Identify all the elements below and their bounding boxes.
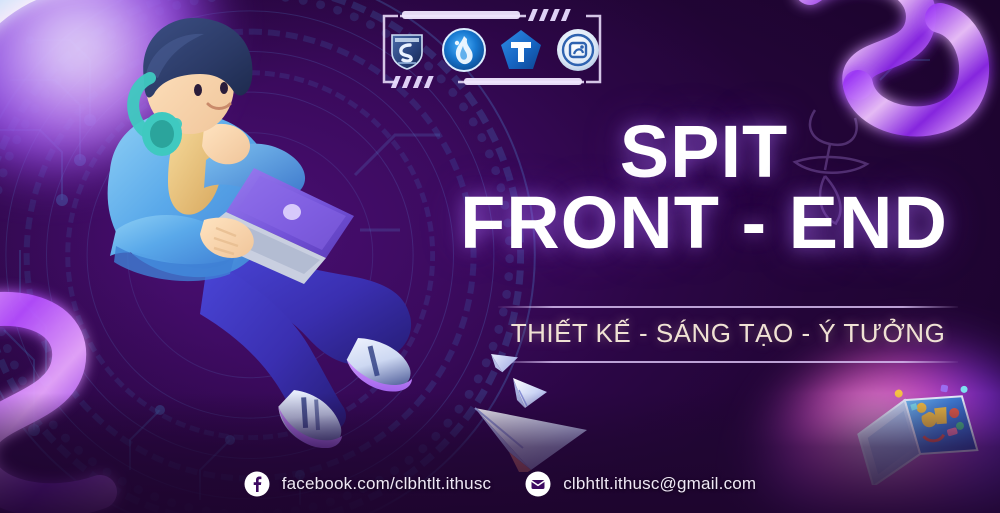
ring-badge-logo[interactable] <box>555 27 601 73</box>
headline-block: SPIT FRONT - END <box>424 118 984 260</box>
contact-email[interactable]: clbhtlt.ithusc@gmail.com <box>525 471 756 497</box>
logo-row <box>376 6 608 92</box>
pentagon-t-logo[interactable] <box>498 27 544 73</box>
headline-line-1: SPIT <box>424 118 984 186</box>
footer-contacts: facebook.com/clbhtlt.ithusc clbhtlt.ithu… <box>0 471 1000 497</box>
email-text: clbhtlt.ithusc@gmail.com <box>563 474 756 494</box>
flame-circle-logo[interactable] <box>441 27 487 73</box>
headline-line-2: FRONT - END <box>424 186 984 260</box>
paper-plane-small <box>491 352 520 374</box>
email-icon <box>525 471 551 497</box>
contact-facebook[interactable]: facebook.com/clbhtlt.ithusc <box>244 471 492 497</box>
facebook-icon <box>244 471 270 497</box>
promo-banner: SPIT FRONT - END THIẾT KẾ - SÁNG TẠO - Ý… <box>0 0 1000 513</box>
facebook-url-text: facebook.com/clbhtlt.ithusc <box>282 474 492 494</box>
shield-crest-logo[interactable] <box>384 27 430 73</box>
logo-frame <box>376 6 608 92</box>
subtitle-rule-top <box>498 306 958 308</box>
subtitle-text: THIẾT KẾ - SÁNG TẠO - Ý TƯỞNG <box>498 318 958 349</box>
